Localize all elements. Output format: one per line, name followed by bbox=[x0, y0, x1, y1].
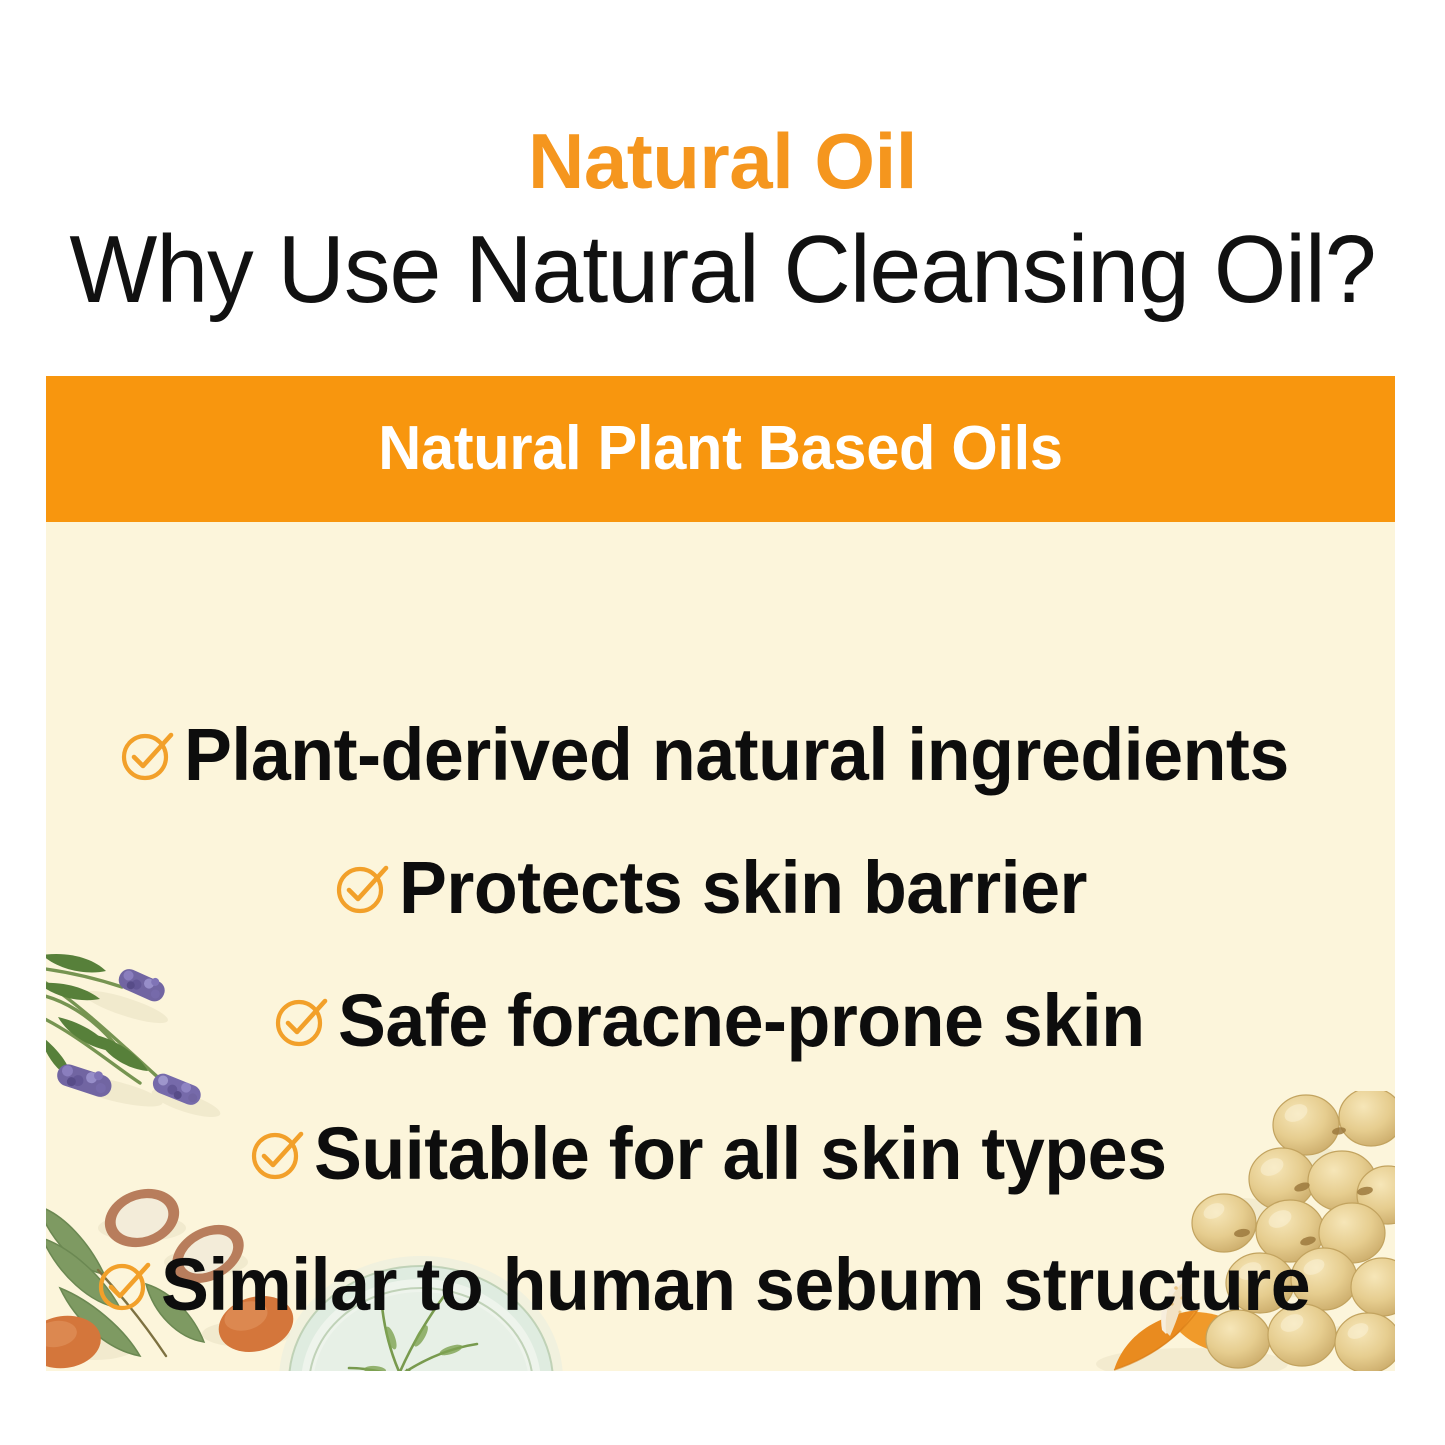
benefit-label: Protects skin barrier bbox=[399, 848, 1087, 928]
check-circle-icon bbox=[333, 859, 391, 917]
benefits-list: Plant-derived natural ingredients Protec… bbox=[46, 522, 1395, 1371]
check-circle-icon bbox=[272, 992, 330, 1050]
list-item: Protects skin barrier bbox=[46, 840, 1395, 936]
list-item: Plant-derived natural ingredients bbox=[46, 707, 1395, 803]
benefits-card: Natural Plant Based Oils bbox=[46, 376, 1395, 1371]
benefit-label: Similar to human sebum structure bbox=[161, 1245, 1310, 1325]
list-item: Similar to human sebum structure bbox=[46, 1237, 1395, 1333]
infographic-canvas: Natural Oil Why Use Natural Cleansing Oi… bbox=[0, 0, 1445, 1445]
benefit-label: Safe foracne-prone skin bbox=[338, 981, 1145, 1061]
page-title: Why Use Natural Cleansing Oil? bbox=[22, 218, 1424, 322]
benefit-label: Suitable for all skin types bbox=[314, 1114, 1167, 1194]
card-header-band: Natural Plant Based Oils bbox=[46, 376, 1395, 522]
benefit-label: Plant-derived natural ingredients bbox=[184, 715, 1289, 795]
card-header-title: Natural Plant Based Oils bbox=[378, 416, 1062, 482]
list-item: Suitable for all skin types bbox=[46, 1106, 1395, 1202]
check-circle-icon bbox=[248, 1125, 306, 1183]
check-circle-icon bbox=[95, 1256, 153, 1314]
list-item: Safe foracne-prone skin bbox=[46, 973, 1395, 1069]
eyebrow-title: Natural Oil bbox=[0, 118, 1445, 204]
check-circle-icon bbox=[118, 726, 176, 784]
